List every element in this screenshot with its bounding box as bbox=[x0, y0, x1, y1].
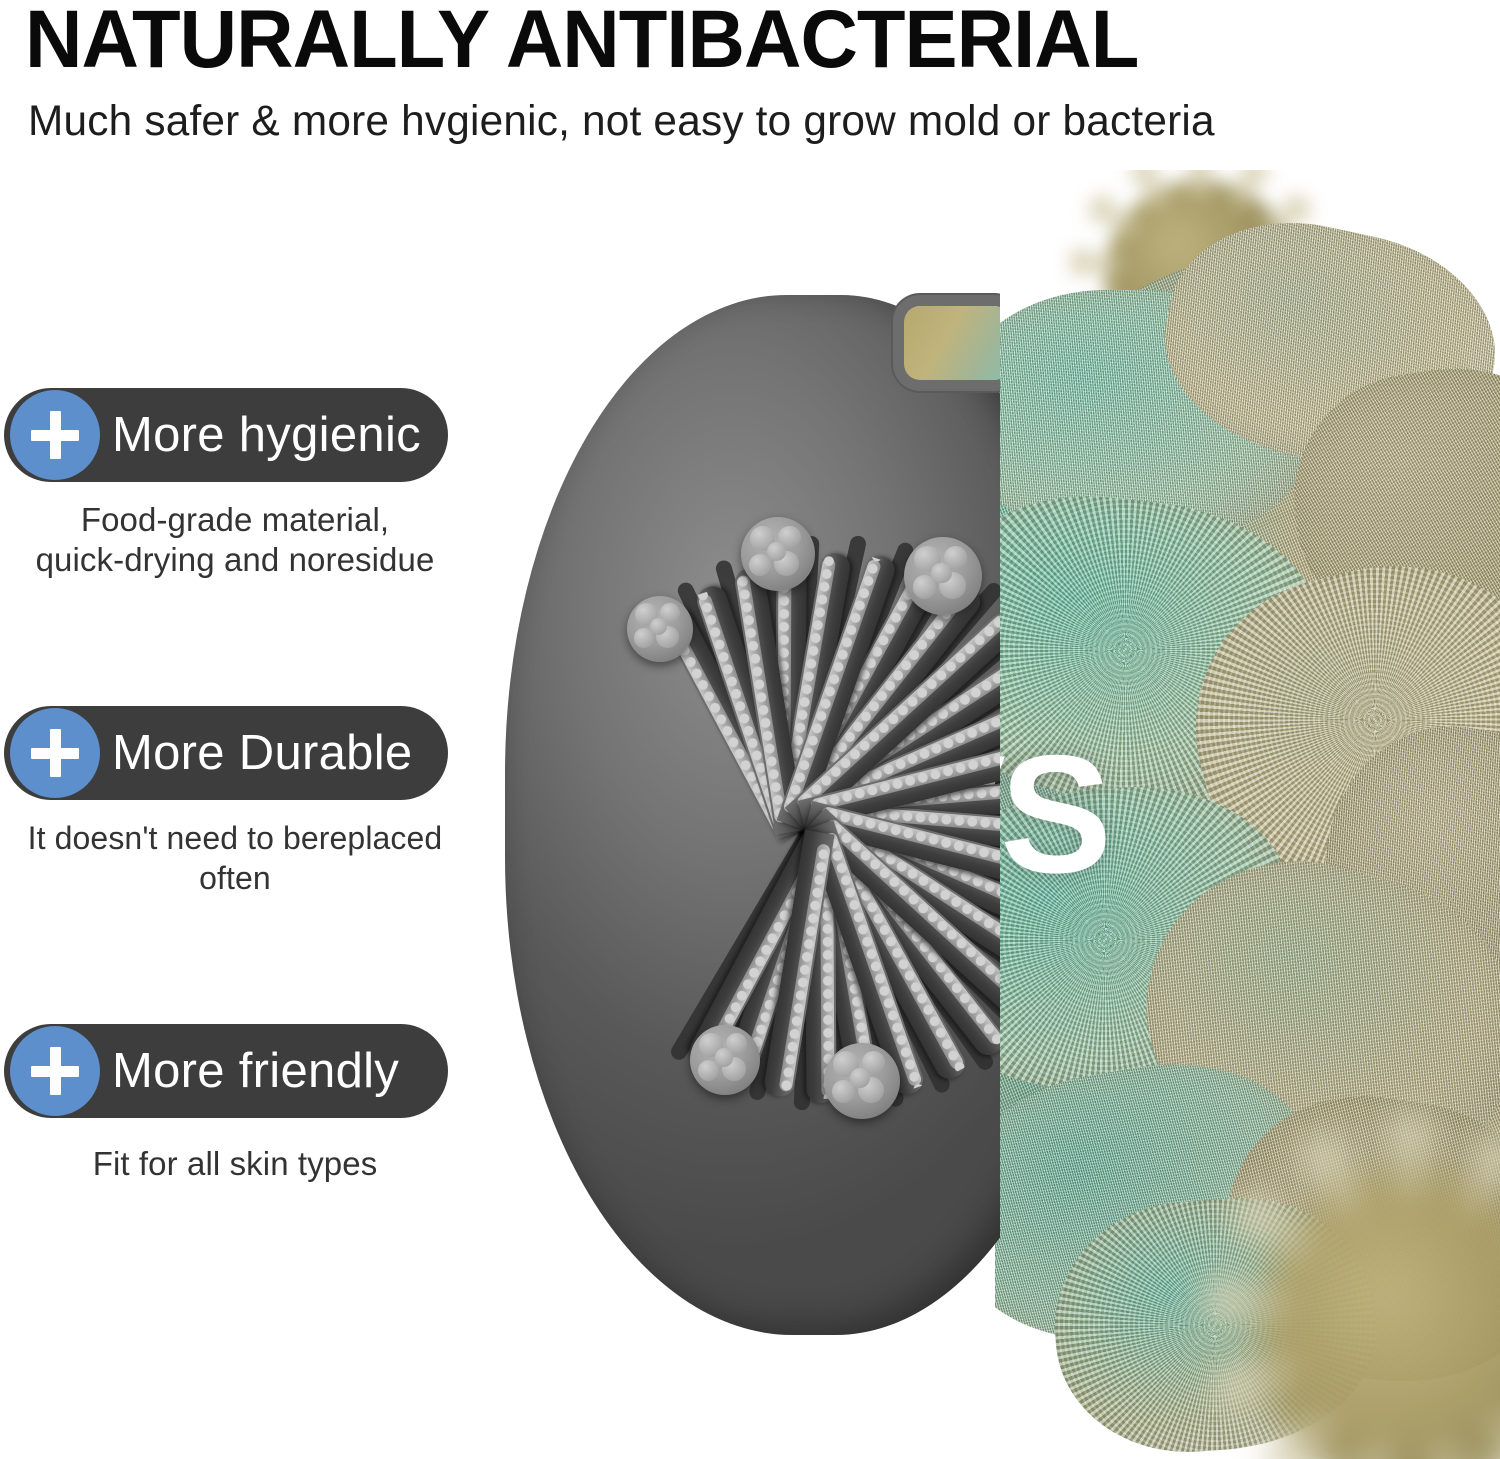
silicone-nub-cluster bbox=[627, 596, 693, 662]
feature-description: It doesn't need to bereplacedoften bbox=[0, 818, 470, 898]
page-subtitle: Much safer & more hvgienic, not easy to … bbox=[28, 96, 1456, 146]
feature-description: Fit for all skin types bbox=[0, 1144, 470, 1184]
silicone-scrubber-photo bbox=[500, 170, 1000, 1459]
hanging-hole bbox=[904, 306, 1000, 380]
feature-label: More hygienic bbox=[112, 388, 421, 482]
header-banner: NATURALLY ANTIBACTERIAL Much safer & mor… bbox=[0, 0, 1500, 170]
feature-badge: More hygienic bbox=[4, 388, 448, 482]
feature-description: Food-grade material,quick-drying and nor… bbox=[0, 500, 470, 580]
feature-badge: More Durable bbox=[4, 706, 448, 800]
page-title: NATURALLY ANTIBACTERIAL bbox=[25, 0, 1432, 82]
feature-badge: More friendly bbox=[4, 1024, 448, 1118]
silicone-nub-cluster bbox=[741, 517, 815, 591]
loofah-sponge-photo bbox=[995, 170, 1500, 1459]
product-comparison-image: VS bbox=[500, 170, 1500, 1459]
plus-icon bbox=[10, 1026, 100, 1116]
silicone-nub-cluster bbox=[904, 537, 982, 615]
plus-icon bbox=[10, 390, 100, 480]
bacteria-particle-icon bbox=[1260, 1170, 1500, 1459]
plus-icon bbox=[10, 708, 100, 798]
silicone-body bbox=[505, 295, 1000, 1335]
silicone-nub-cluster bbox=[824, 1043, 900, 1119]
feature-label: More Durable bbox=[112, 706, 412, 800]
feature-label: More friendly bbox=[112, 1024, 399, 1118]
